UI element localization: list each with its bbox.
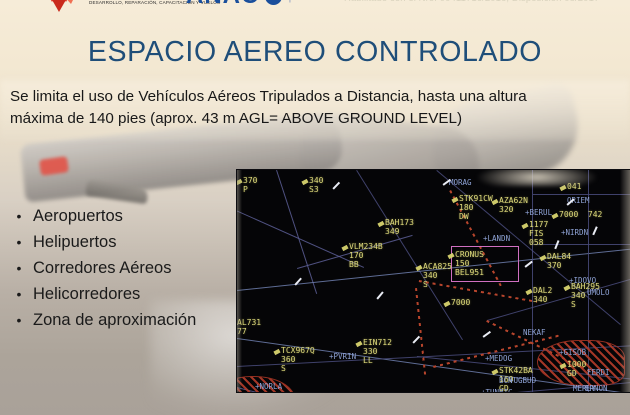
radar-aircraft-blip bbox=[491, 199, 498, 205]
radar-fix-label: BCN bbox=[499, 376, 513, 385]
bullet-label: Corredores Aéreos bbox=[33, 259, 172, 278]
radar-fix-label: MORAG bbox=[449, 178, 472, 187]
radar-velocity-vector bbox=[376, 291, 383, 299]
bullet-marker-icon: • bbox=[14, 203, 24, 229]
radar-fix-label: ERNON bbox=[585, 384, 608, 392]
radar-target-label: DAL2 340 bbox=[533, 286, 552, 304]
bullet-label: Helipuertos bbox=[33, 233, 116, 252]
list-item: • Corredores Aéreos bbox=[14, 255, 244, 281]
bullet-label: Helicorredores bbox=[33, 285, 140, 304]
bullet-label: Zona de aproximación bbox=[33, 311, 196, 330]
radar-velocity-vector bbox=[483, 331, 491, 338]
radar-target-label: 7000 bbox=[451, 298, 470, 307]
radar-aircraft-blip bbox=[443, 301, 450, 307]
bullet-list: • Aeropuertos • Helipuertos • Corredores… bbox=[14, 203, 244, 333]
radar-target-label: ACA825 340 S bbox=[423, 262, 452, 290]
radar-aircraft-blip bbox=[563, 285, 570, 291]
paragraph-line-2: máxima de 140 pies (aprox. 43 m AGL= ABO… bbox=[10, 108, 610, 130]
radar-target-label: 370 P bbox=[243, 176, 257, 194]
radar-target-label: DAL84 370 bbox=[547, 252, 571, 270]
anac-dot-icon bbox=[265, 0, 282, 5]
list-item: • Aeropuertos bbox=[14, 203, 244, 229]
radar-fix-label: NEKAF bbox=[523, 328, 546, 337]
bullet-marker-icon: • bbox=[14, 307, 24, 333]
radar-aircraft-blip bbox=[355, 341, 362, 347]
radar-velocity-vector bbox=[592, 226, 597, 235]
radar-aircraft-blip bbox=[341, 245, 348, 251]
page-title: ESPACIO AEREO CONTROLADO bbox=[0, 36, 630, 69]
bullet-marker-icon: • bbox=[14, 229, 24, 255]
list-item: • Helipuertos bbox=[14, 229, 244, 255]
radar-target-label: 7000 742 bbox=[559, 210, 602, 219]
radar-edge-left bbox=[237, 170, 242, 392]
drone-red-marker bbox=[39, 156, 69, 176]
slide-header: by INFORMATICAVIPS.R.L. DESARROLLO, REPA… bbox=[0, 0, 630, 22]
habilitacion-text: Habilitado con el Nro. 00411716/2016, Di… bbox=[344, 0, 599, 4]
radar-target-label: CRONUS 150 BEL951 bbox=[455, 250, 484, 278]
drone-landing-leg bbox=[85, 180, 149, 204]
list-item: • Helicorredores bbox=[14, 281, 244, 307]
screen-glare bbox=[477, 170, 597, 186]
radar-aircraft-blip bbox=[377, 221, 384, 227]
radar-target-label: VLM234B 170 BB bbox=[349, 242, 383, 270]
radar-fix-label: +NIRDN bbox=[561, 228, 588, 237]
radar-fix-label: +UGBUD bbox=[509, 376, 536, 385]
radar-edge-right bbox=[620, 170, 630, 392]
radar-target-label: 1177 FIS 058 bbox=[529, 220, 548, 248]
radar-velocity-vector bbox=[412, 336, 419, 344]
slide: by INFORMATICAVIPS.R.L. DESARROLLO, REPA… bbox=[0, 0, 630, 415]
radar-target-label: STK91CW 180 DW bbox=[459, 194, 493, 222]
radar-canvas: 370 P340 S3BAH173 349VLM234B 170 BBACA82… bbox=[237, 170, 630, 392]
anac-name: ANAC bbox=[186, 0, 259, 10]
radar-aircraft-blip bbox=[273, 349, 280, 355]
radar-target-label: 340 S3 bbox=[309, 176, 323, 194]
bullet-label: Aeropuertos bbox=[33, 207, 123, 226]
radar-target-label: 1000 GD bbox=[567, 360, 586, 378]
radar-target-label: BAH173 349 bbox=[385, 218, 414, 236]
radar-fix-label: +BERUL bbox=[525, 208, 552, 217]
bullet-marker-icon: • bbox=[14, 255, 24, 281]
radar-fix-label: FERDI bbox=[587, 368, 610, 377]
radar-target-label: AZA62N 320 bbox=[499, 196, 528, 214]
body-paragraph: Se limita el uso de Vehículos Aéreos Tri… bbox=[10, 86, 610, 129]
radar-fix-label: +IDOVO bbox=[569, 276, 596, 285]
radar-scope-image: 370 P340 S3BAH173 349VLM234B 170 BBACA82… bbox=[237, 170, 630, 392]
logo-mark-icon bbox=[40, 0, 84, 14]
radar-aircraft-blip bbox=[301, 179, 308, 185]
radar-fix-label: +PVRIN bbox=[329, 352, 356, 361]
paragraph-line-1: Se limita el uso de Vehículos Aéreos Tri… bbox=[10, 86, 610, 108]
radar-fix-label: +NORLA bbox=[255, 382, 282, 391]
radar-aircraft-blip bbox=[521, 223, 528, 229]
radar-fix-label: UMOLO bbox=[587, 288, 610, 297]
radar-target-label: TCX967Q 360 S bbox=[281, 346, 315, 374]
radar-fix-label: +MEDOG bbox=[485, 354, 512, 363]
radar-fix-label: +LANDN bbox=[483, 234, 510, 243]
list-item: • Zona de aproximación bbox=[14, 307, 244, 333]
radar-target-label: EIN712 330 LL bbox=[363, 338, 392, 366]
radar-fix-label: +TUNBIG bbox=[481, 388, 513, 392]
radar-fix-label: +GISOB bbox=[559, 348, 586, 357]
bullet-marker-icon: • bbox=[14, 281, 24, 307]
radar-velocity-vector bbox=[332, 182, 339, 190]
radar-aircraft-blip bbox=[551, 213, 558, 219]
